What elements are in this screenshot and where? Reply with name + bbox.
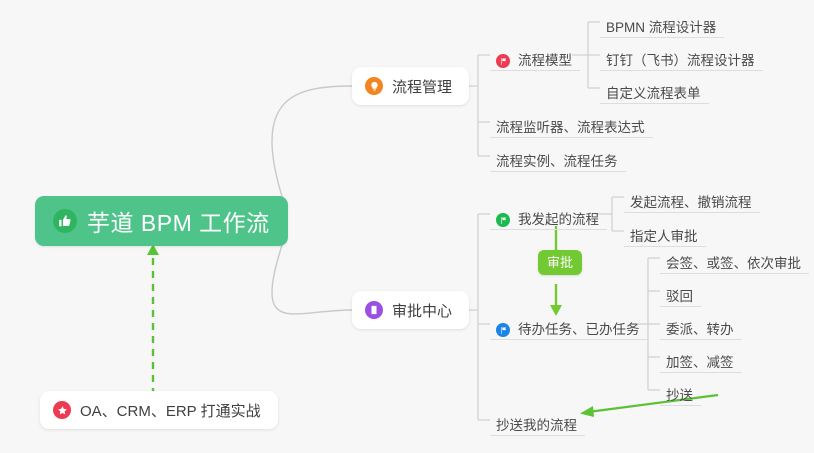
node-label: 抄送我的流程 (496, 419, 577, 433)
approval-tag: 审批 (538, 250, 582, 275)
node-assignee-approval[interactable]: 指定人审批 (624, 217, 706, 247)
approval-tag-label: 审批 (547, 255, 573, 270)
thumbs-up-icon (53, 209, 77, 233)
node-countersign[interactable]: 会签、或签、依次审批 (660, 244, 809, 274)
node-label: 流程监听器、流程表达式 (496, 121, 645, 135)
node-process-instance[interactable]: 流程实例、流程任务 (490, 142, 626, 172)
node-process-model[interactable]: 流程模型 (490, 41, 580, 71)
node-delegate-transfer[interactable]: 委派、转办 (660, 310, 742, 340)
flag-icon (496, 213, 510, 227)
bottom-card-label: OA、CRM、ERP 打通实战 (80, 400, 261, 421)
node-label: 抄送 (666, 389, 693, 403)
node-label: 驳回 (666, 290, 693, 304)
flag-icon (496, 54, 510, 68)
node-label: 发起流程、撤销流程 (630, 196, 752, 210)
node-dingtalk-designer[interactable]: 钉钉（飞书）流程设计器 (600, 41, 763, 71)
node-label: 自定义流程表单 (606, 87, 701, 101)
node-custom-form[interactable]: 自定义流程表单 (600, 74, 709, 104)
star-icon (53, 401, 71, 419)
node-todo-done-tasks[interactable]: 待办任务、已办任务 (490, 310, 648, 340)
node-label: 我发起的流程 (518, 213, 599, 227)
node-label: 委派、转办 (666, 323, 734, 337)
node-cc-to-me[interactable]: 抄送我的流程 (490, 406, 585, 436)
branch-node-approval-center[interactable]: 审批中心 (352, 291, 469, 329)
mindmap-canvas: 芋道 BPM 工作流 流程管理 流程模型 BPMN 流程设计器 钉钉（飞书）流程… (0, 0, 814, 453)
node-start-cancel-process[interactable]: 发起流程、撤销流程 (624, 183, 760, 213)
node-add-remove-sign[interactable]: 加签、减签 (660, 343, 742, 373)
branch-label: 审批中心 (392, 300, 452, 321)
bottom-card-integration[interactable]: OA、CRM、ERP 打通实战 (40, 391, 278, 429)
node-label: BPMN 流程设计器 (606, 21, 716, 35)
node-label: 指定人审批 (630, 230, 698, 244)
node-label: 钉钉（飞书）流程设计器 (606, 54, 755, 68)
node-label: 流程实例、流程任务 (496, 155, 618, 169)
lightbulb-icon (365, 77, 383, 95)
root-label: 芋道 BPM 工作流 (87, 204, 270, 238)
node-label: 会签、或签、依次审批 (666, 257, 801, 271)
node-bpmn-designer[interactable]: BPMN 流程设计器 (600, 8, 724, 38)
node-reject[interactable]: 驳回 (660, 277, 701, 307)
node-process-listener[interactable]: 流程监听器、流程表达式 (490, 108, 653, 138)
node-cc[interactable]: 抄送 (660, 376, 701, 406)
root-node[interactable]: 芋道 BPM 工作流 (35, 196, 288, 246)
node-label: 加签、减签 (666, 356, 734, 370)
node-my-started-process[interactable]: 我发起的流程 (490, 200, 607, 230)
node-label: 流程模型 (518, 54, 572, 68)
branch-label: 流程管理 (392, 76, 452, 97)
node-label: 待办任务、已办任务 (518, 323, 640, 337)
branch-node-process-management[interactable]: 流程管理 (352, 67, 469, 105)
flag-icon (496, 323, 510, 337)
document-icon (365, 301, 383, 319)
